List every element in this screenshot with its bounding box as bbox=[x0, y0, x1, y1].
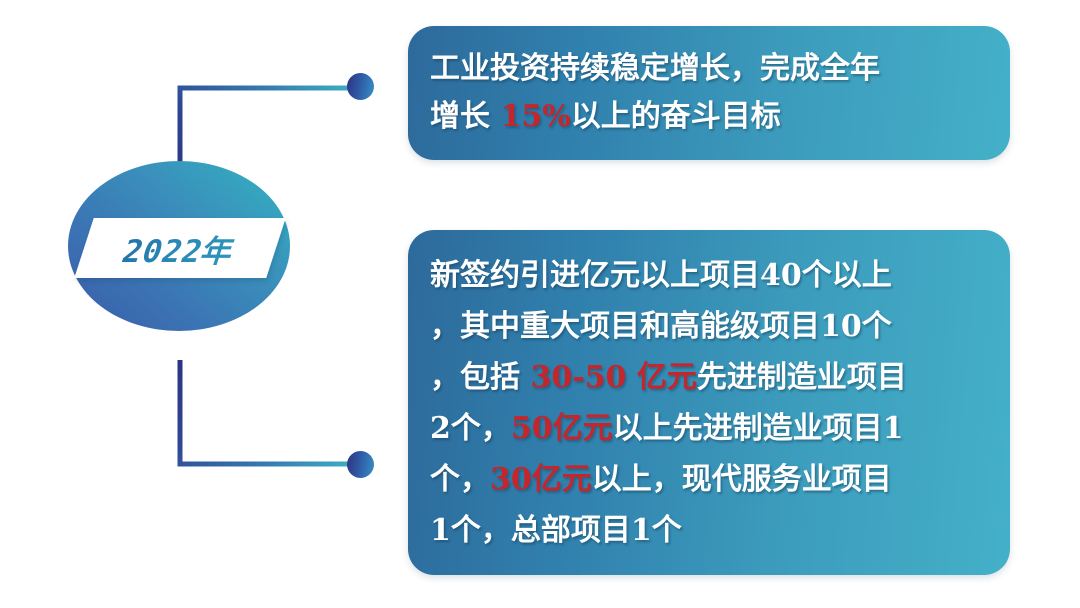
text-segment: 个， bbox=[430, 462, 490, 497]
card-line: 2个，50亿元以上先进制造业项目1 bbox=[430, 403, 988, 454]
highlight-value: 30亿元 bbox=[490, 462, 592, 497]
text-segment: 以上先进制造业项目1 bbox=[613, 411, 904, 446]
year-banner-shape: 2022年 bbox=[74, 218, 285, 278]
year-label: 2022年 bbox=[74, 218, 285, 278]
infographic-canvas: 2022年 工业投资持续稳定增长，完成全年 增长 15%以上的奋斗目标 新签约引… bbox=[0, 0, 1080, 608]
connector-node-dot-bottom bbox=[347, 451, 374, 478]
text-segment: 以上的奋斗目标 bbox=[571, 99, 781, 134]
highlight-value: 30-50 亿元 bbox=[530, 360, 696, 395]
card-line: 个，30亿元以上，现代服务业项目 bbox=[430, 454, 988, 505]
text-segment: 增长 bbox=[430, 99, 500, 134]
connector-bottom bbox=[176, 360, 366, 468]
card-industrial-investment: 工业投资持续稳定增长，完成全年 增长 15%以上的奋斗目标 bbox=[408, 26, 1010, 160]
card-line: ，其中重大项目和高能级项目10个 bbox=[430, 301, 988, 352]
text-segment: ，其中重大项目和高能级项目10个 bbox=[430, 309, 892, 344]
card-line: 工业投资持续稳定增长，完成全年 bbox=[430, 45, 988, 93]
text-segment: 2个， bbox=[430, 411, 511, 446]
highlight-value: 15% bbox=[500, 99, 570, 134]
text-segment: 1个，总部项目1个 bbox=[430, 513, 682, 548]
card-new-projects: 新签约引进亿元以上项目40个以上 ，其中重大项目和高能级项目10个 ，包括 30… bbox=[408, 230, 1010, 575]
text-segment: 先进制造业项目 bbox=[697, 360, 907, 395]
card-line: 1个，总部项目1个 bbox=[430, 505, 988, 556]
card-line: 增长 15%以上的奋斗目标 bbox=[430, 93, 988, 141]
text-segment: 以上，现代服务业项目 bbox=[592, 462, 892, 497]
year-marker-circle: 2022年 bbox=[68, 161, 290, 331]
card-line: ，包括 30-50 亿元先进制造业项目 bbox=[430, 352, 988, 403]
card-line: 新签约引进亿元以上项目40个以上 bbox=[430, 250, 988, 301]
text-segment: 工业投资持续稳定增长，完成全年 bbox=[430, 51, 880, 86]
text-segment: ，包括 bbox=[430, 360, 530, 395]
highlight-value: 50亿元 bbox=[511, 411, 613, 446]
connector-node-dot-top bbox=[347, 73, 374, 100]
text-segment: 新签约引进亿元以上项目40个以上 bbox=[430, 258, 892, 293]
